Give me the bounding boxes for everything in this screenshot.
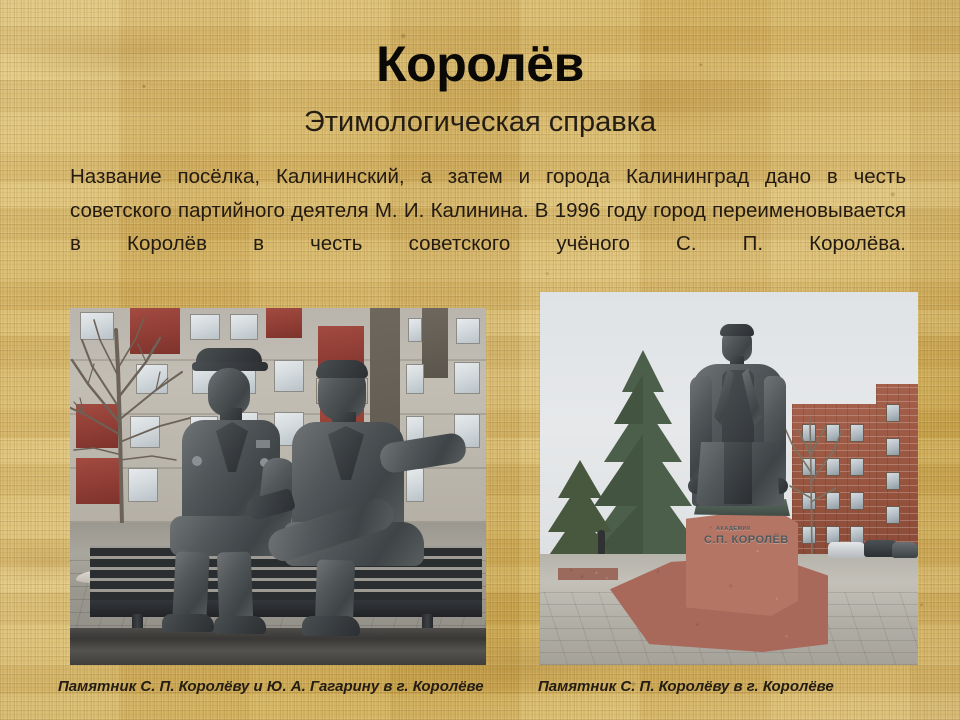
parked-car [828,542,866,558]
right-window [886,506,900,524]
page-subtitle: Этимологическая справка [0,107,960,139]
right-window [850,458,864,476]
gagarin-leg [172,551,210,623]
left-monument-plinth [70,628,486,665]
body-paragraph: Название посёлка, Калининский, а затем и… [70,160,906,294]
pedestal-block [686,508,798,616]
right-window [850,424,864,442]
pedestrian [598,530,605,554]
left-window [456,318,480,344]
korolyov-hair [316,360,368,378]
photo-left-caption: Памятник С. П. Королёву и Ю. А. Гагарину… [58,678,484,695]
gagarin-medal [256,440,270,448]
left-dark-panel [422,308,448,378]
photo-right: АКАДЕМИК С.П. КОРОЛЁВ [540,292,918,665]
right-kerb [558,568,618,580]
left-window [408,318,422,342]
statue-trousers [724,442,752,504]
pedestal-inscription-line1: АКАДЕМИК [716,526,751,532]
pedestal-inscription-line2: С.П. КОРОЛЁВ [704,534,789,546]
left-red-panel [266,308,302,338]
page-title: Королёв [0,38,960,91]
korolyov-leg [315,559,355,624]
slide: Королёв Этимологическая справка Название… [0,0,960,720]
gagarin-shoe [162,614,214,632]
left-window [406,468,424,502]
parked-car [892,542,918,558]
right-window [886,472,900,490]
statue-hair [720,324,754,336]
korolyov-shoe [302,616,360,636]
photo-left [70,308,486,665]
right-window [850,492,864,510]
gagarin-medal [192,456,202,466]
gagarin-shoe [214,616,266,634]
left-window [454,362,480,394]
left-window [406,364,424,394]
photo-right-caption: Памятник С. П. Королёву в г. Королёве [538,678,834,695]
left-window [274,360,304,392]
left-window [230,314,258,340]
gagarin-leg [217,551,253,622]
right-window [886,404,900,422]
right-window [886,438,900,456]
